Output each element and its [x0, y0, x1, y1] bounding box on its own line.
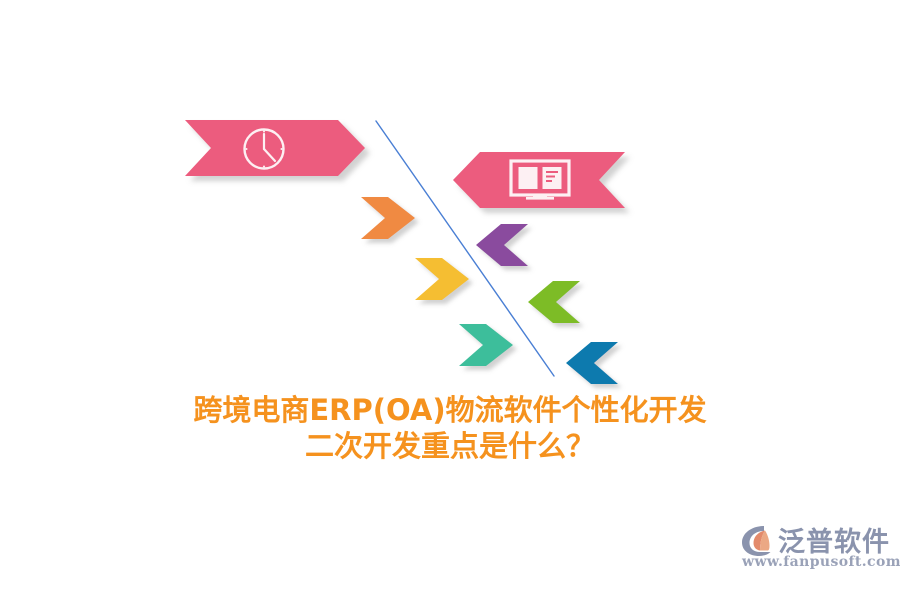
clock-banner-shape — [185, 120, 365, 176]
clock-banner — [185, 120, 365, 176]
chevron-purple — [476, 224, 528, 266]
chevron-blue — [566, 342, 618, 384]
decorative-arrow-graphic — [0, 0, 900, 600]
brand-url: www.fanpusoft.com — [742, 554, 900, 570]
page-title-line-1: 跨境电商ERP(OA)物流软件个性化开发 — [0, 392, 900, 428]
chevron-orange — [361, 197, 415, 239]
page-title-line-2: 二次开发重点是什么？ — [0, 428, 900, 464]
page-title: 跨境电商ERP(OA)物流软件个性化开发 二次开发重点是什么？ — [0, 392, 900, 464]
fanpu-logo-icon — [740, 524, 776, 558]
chevron-green — [528, 281, 580, 323]
chevron-teal — [459, 324, 513, 366]
poster-canvas: 跨境电商ERP(OA)物流软件个性化开发 二次开发重点是什么？ 泛普软件 www… — [0, 0, 900, 600]
brand-logo[interactable]: 泛普软件 www.fanpusoft.com — [740, 520, 882, 582]
chevron-yellow — [415, 258, 469, 300]
